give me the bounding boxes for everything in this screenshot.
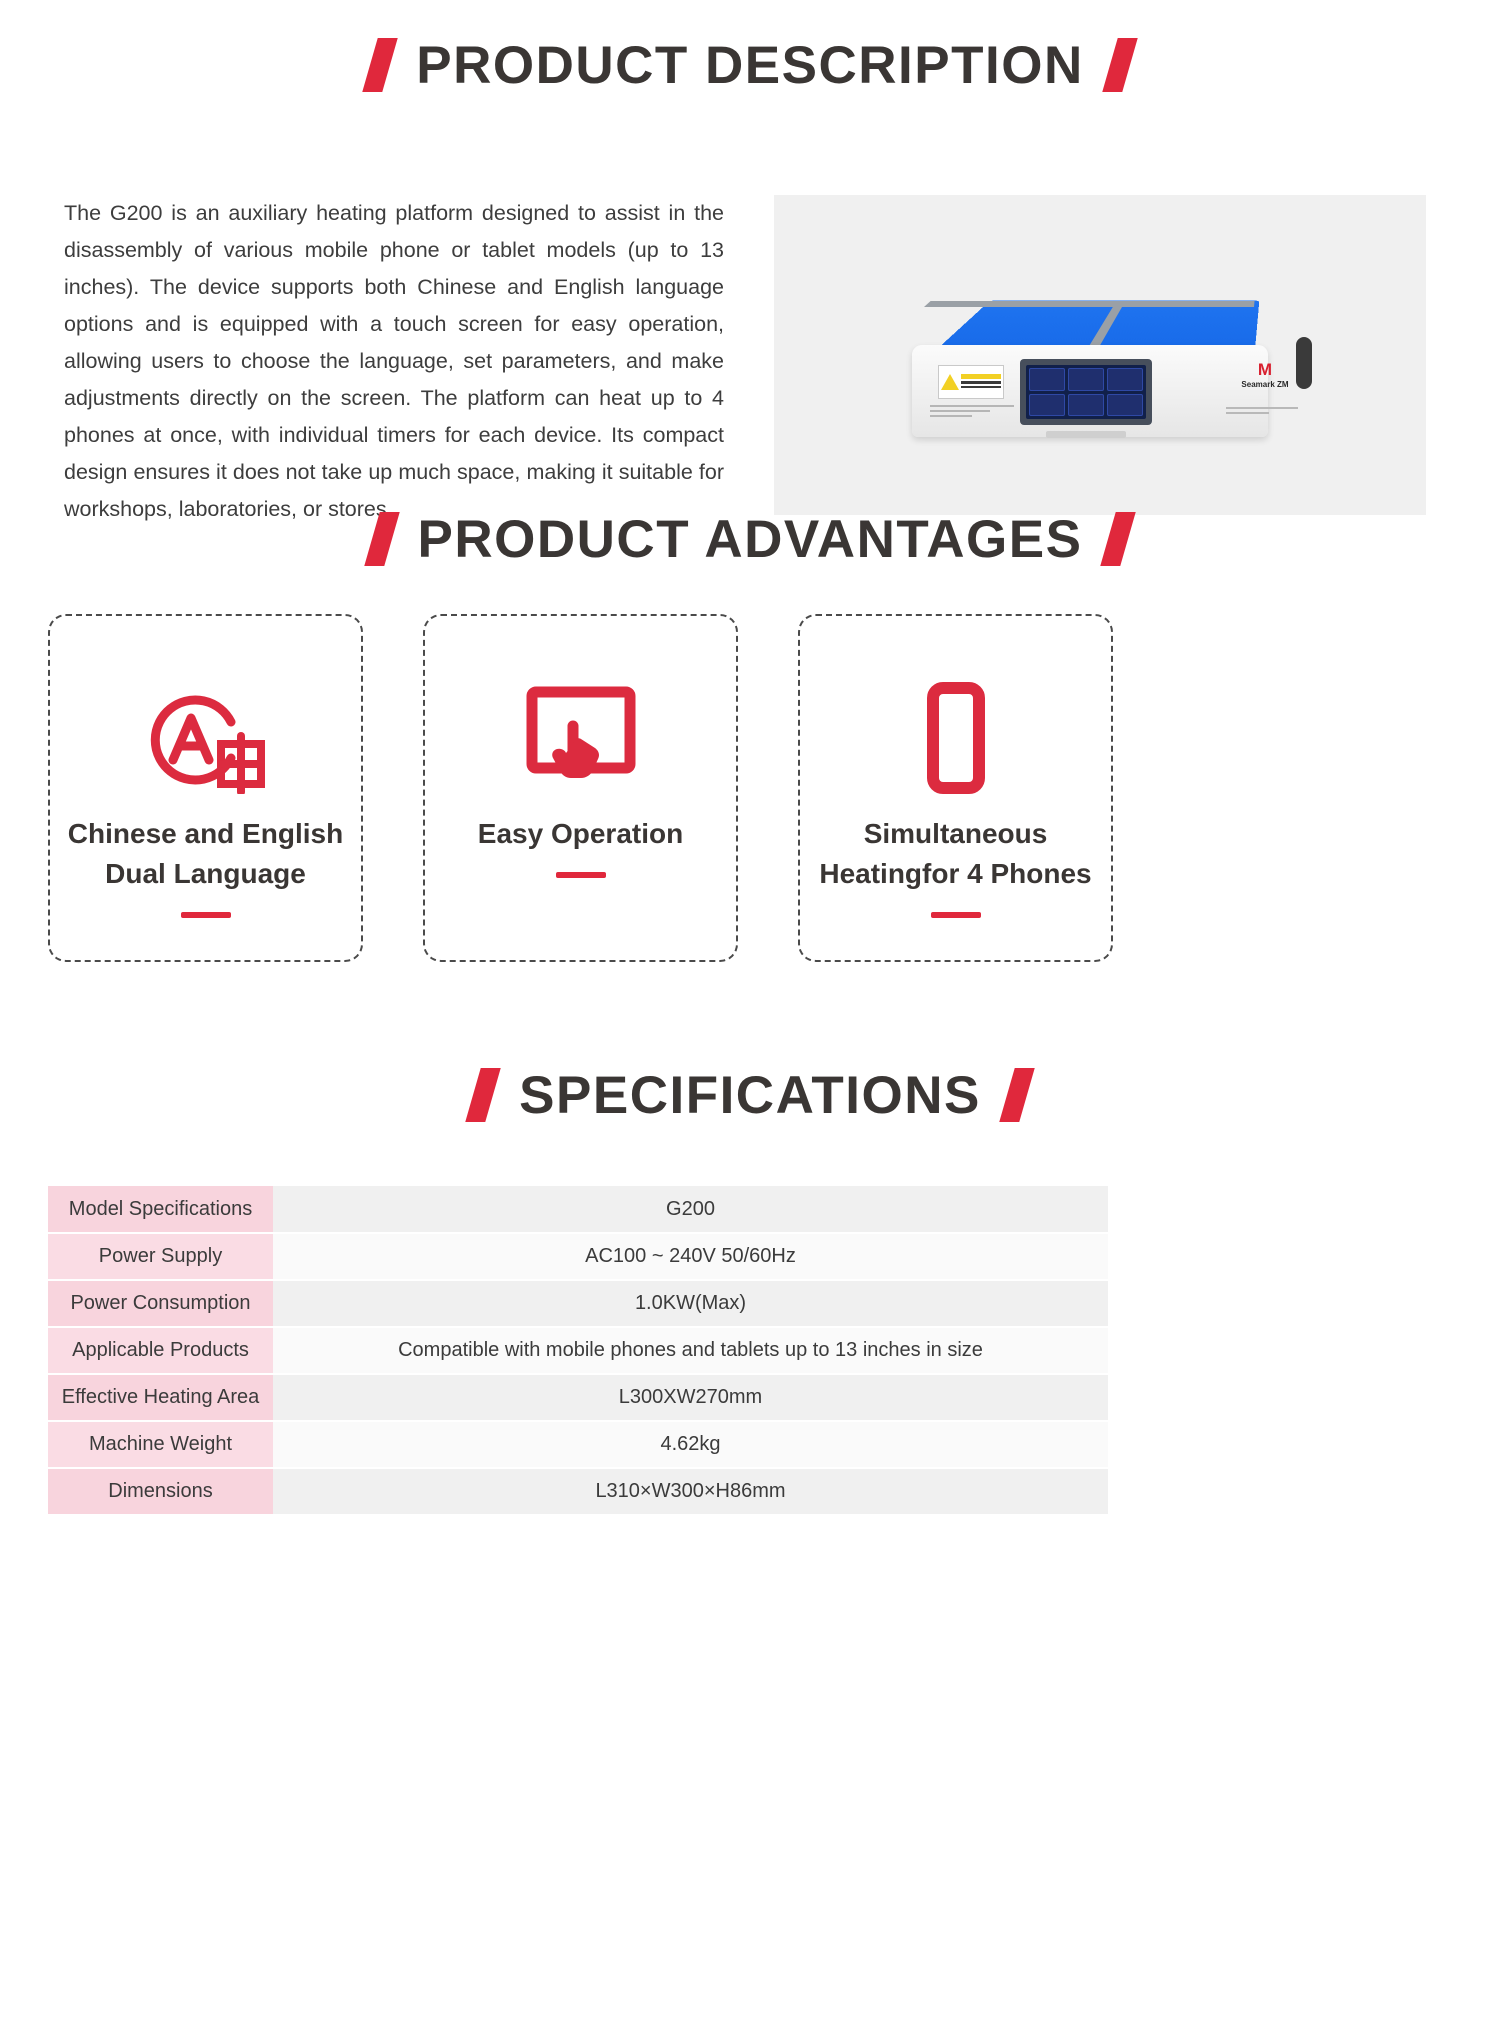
slash-accent-left-icon bbox=[465, 1068, 500, 1122]
spec-value: 4.62kg bbox=[273, 1421, 1108, 1468]
spec-value: L300XW270mm bbox=[273, 1374, 1108, 1421]
screen-key bbox=[1068, 368, 1104, 391]
advantage-label: Easy Operation bbox=[416, 814, 746, 854]
product-detail-page: PRODUCT DESCRIPTION The G200 is an auxil… bbox=[0, 0, 1500, 2036]
advantage-card-dual-language: Chinese and English Dual Language bbox=[48, 614, 363, 962]
table-row: Power Supply AC100 ~ 240V 50/60Hz bbox=[48, 1233, 1108, 1280]
brand-mark-icon: M bbox=[1230, 361, 1300, 378]
heating-platform-device-illustration: M Seamark ZM bbox=[894, 241, 1314, 476]
product-advantages-title: PRODUCT ADVANTAGES bbox=[418, 513, 1083, 566]
specifications-table: Model Specifications G200 Power Supply A… bbox=[48, 1186, 1108, 1516]
screen-key bbox=[1107, 394, 1143, 417]
advantage-underline bbox=[556, 872, 606, 878]
device-top-divider-horizontal bbox=[924, 301, 1255, 307]
device-spec-label bbox=[930, 405, 1014, 420]
language-dual-icon bbox=[143, 678, 269, 798]
spec-value: AC100 ~ 240V 50/60Hz bbox=[273, 1233, 1108, 1280]
screen-key bbox=[1029, 368, 1065, 391]
product-image: M Seamark ZM bbox=[774, 195, 1426, 515]
table-row: Dimensions L310×W300×H86mm bbox=[48, 1468, 1108, 1515]
slash-accent-left-icon bbox=[364, 512, 399, 566]
advantage-underline bbox=[931, 912, 981, 918]
slash-accent-right-icon bbox=[1101, 512, 1136, 566]
table-row: Applicable Products Compatible with mobi… bbox=[48, 1327, 1108, 1374]
spec-value: Compatible with mobile phones and tablet… bbox=[273, 1327, 1108, 1374]
advantage-underline bbox=[181, 912, 231, 918]
table-row: Machine Weight 4.62kg bbox=[48, 1421, 1108, 1468]
advantage-card-easy-operation: Easy Operation bbox=[423, 614, 738, 962]
brand-name-label: Seamark ZM bbox=[1230, 380, 1300, 389]
device-certification-marks bbox=[1226, 407, 1298, 417]
screen-key bbox=[1029, 394, 1065, 417]
touch-screen-icon bbox=[518, 678, 644, 798]
warning-triangle-icon bbox=[941, 374, 959, 390]
slash-accent-left-icon bbox=[363, 38, 398, 92]
device-brand-logo: M Seamark ZM bbox=[1230, 361, 1300, 389]
product-description-body: The G200 is an auxiliary heating platfor… bbox=[0, 195, 1500, 528]
advantage-label: Chinese and English Dual Language bbox=[41, 814, 371, 894]
advantage-label: Simultaneous Heatingfor 4 Phones bbox=[791, 814, 1121, 894]
spec-key: Dimensions bbox=[48, 1468, 273, 1515]
spec-key: Machine Weight bbox=[48, 1421, 273, 1468]
specifications-title: SPECIFICATIONS bbox=[519, 1069, 981, 1122]
slash-accent-right-icon bbox=[1102, 38, 1137, 92]
spec-key: Model Specifications bbox=[48, 1186, 273, 1233]
product-description-heading: PRODUCT DESCRIPTION bbox=[0, 38, 1500, 92]
warning-label-icon bbox=[938, 365, 1004, 399]
advantage-card-four-phones: Simultaneous Heatingfor 4 Phones bbox=[798, 614, 1113, 962]
screen-key bbox=[1068, 394, 1104, 417]
table-row: Effective Heating Area L300XW270mm bbox=[48, 1374, 1108, 1421]
product-advantages-heading: PRODUCT ADVANTAGES bbox=[0, 512, 1500, 566]
spec-key: Effective Heating Area bbox=[48, 1374, 273, 1421]
advantage-card-list: Chinese and English Dual Language Easy O… bbox=[48, 614, 1452, 962]
table-row: Model Specifications G200 bbox=[48, 1186, 1108, 1233]
device-touch-screen bbox=[1020, 359, 1152, 425]
device-screen-keys bbox=[1026, 365, 1146, 419]
specifications-heading: SPECIFICATIONS bbox=[0, 1068, 1500, 1122]
spec-key: Applicable Products bbox=[48, 1327, 273, 1374]
product-description-paragraph: The G200 is an auxiliary heating platfor… bbox=[64, 195, 724, 528]
spec-key: Power Supply bbox=[48, 1233, 273, 1280]
warning-label-text-lines bbox=[961, 374, 1001, 390]
slash-accent-right-icon bbox=[999, 1068, 1034, 1122]
table-row: Power Consumption 1.0KW(Max) bbox=[48, 1280, 1108, 1327]
spec-value: G200 bbox=[273, 1186, 1108, 1233]
spec-value: 1.0KW(Max) bbox=[273, 1280, 1108, 1327]
device-nameplate bbox=[1046, 431, 1126, 438]
phone-icon bbox=[893, 678, 1019, 798]
screen-key bbox=[1107, 368, 1143, 391]
spec-value: L310×W300×H86mm bbox=[273, 1468, 1108, 1515]
product-description-title: PRODUCT DESCRIPTION bbox=[416, 39, 1083, 92]
spec-key: Power Consumption bbox=[48, 1280, 273, 1327]
